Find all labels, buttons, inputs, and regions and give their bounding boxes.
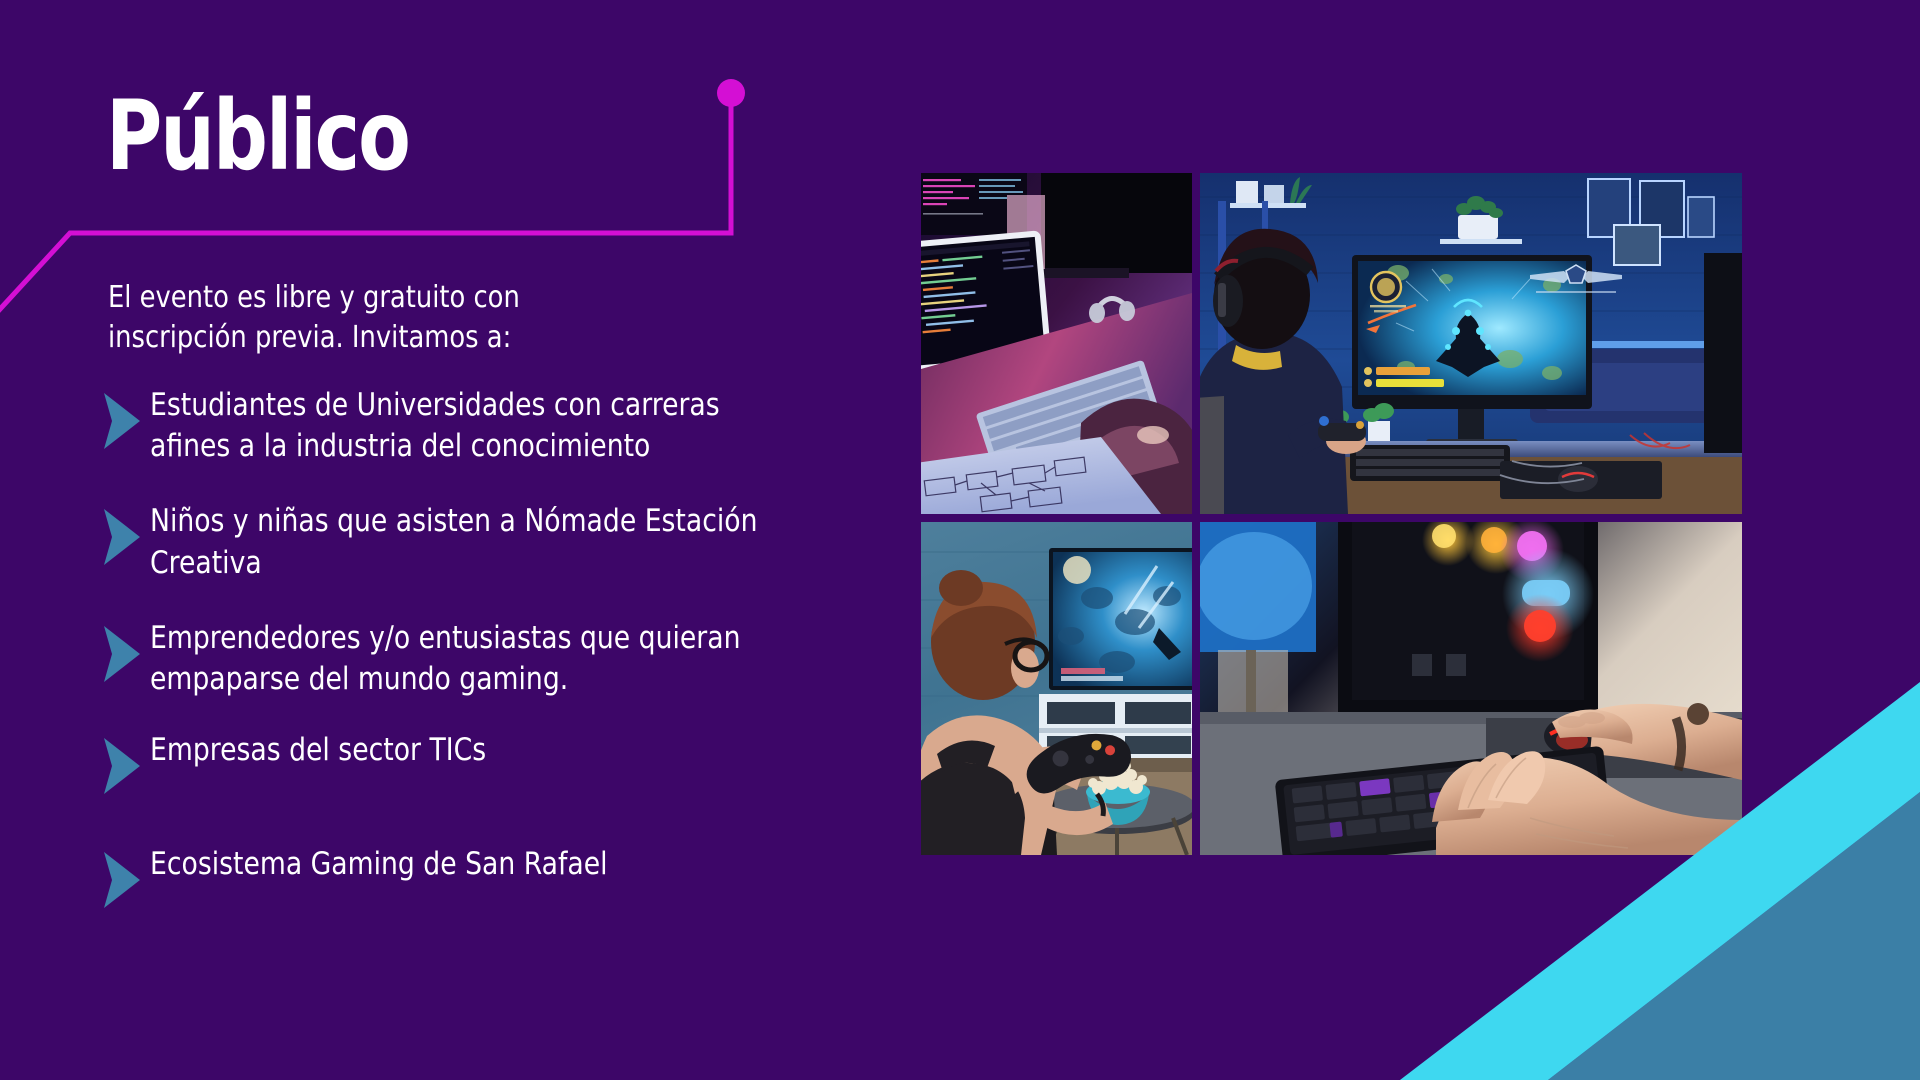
list-item: Niños y niñas que asisten a Nómade Estac… — [100, 501, 900, 583]
list-item-label: Empresas del sector TICs — [150, 730, 795, 771]
list-item: Empresas del sector TICs — [100, 730, 900, 796]
photo-hands-gaming-keyboard-rgb — [1200, 522, 1742, 855]
arrowhead-bullet-icon — [100, 850, 142, 910]
list-item-label: Emprendedores y/o entusiastas que quiera… — [150, 618, 795, 700]
audience-bullet-list: Estudiantes de Universidades con carrera… — [100, 385, 900, 910]
photo-gamer-headphones-space-shooter — [1200, 173, 1742, 514]
photo-coding-desk-neon — [921, 173, 1192, 514]
list-item-label: Niños y niñas que asisten a Nómade Estac… — [150, 501, 795, 583]
slide-publico: Público El evento es libre y gratuito co… — [0, 0, 1920, 1080]
list-item: Emprendedores y/o entusiastas que quiera… — [100, 618, 900, 700]
arrowhead-bullet-icon — [100, 507, 142, 567]
photo-grid — [921, 173, 1742, 855]
intro-paragraph: El evento es libre y gratuito con inscri… — [108, 278, 590, 357]
photo-woman-gamepad-tv — [921, 522, 1192, 855]
arrowhead-bullet-icon — [100, 391, 142, 451]
list-item: Ecosistema Gaming de San Rafael — [100, 844, 900, 910]
page-title: Público — [106, 88, 409, 186]
list-item-label: Ecosistema Gaming de San Rafael — [150, 844, 795, 885]
list-item-label: Estudiantes de Universidades con carrera… — [150, 385, 795, 467]
list-item: Estudiantes de Universidades con carrera… — [100, 385, 900, 467]
arrowhead-bullet-icon — [100, 736, 142, 796]
connector-dot-icon — [717, 79, 745, 107]
arrowhead-bullet-icon — [100, 624, 142, 684]
